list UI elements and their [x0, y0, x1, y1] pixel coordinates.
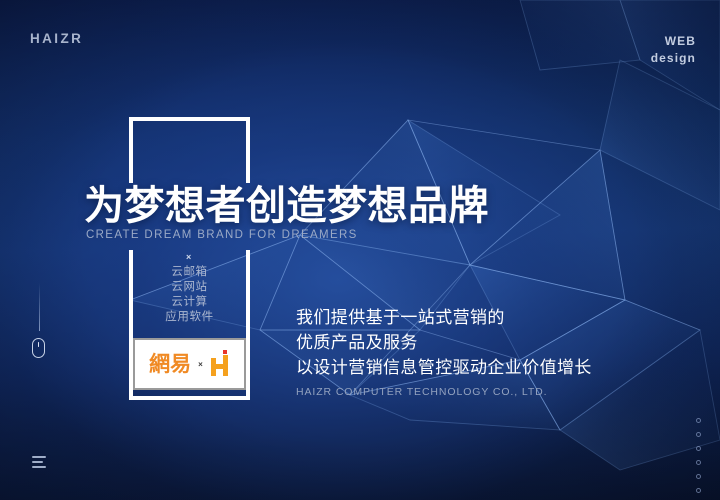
service-menu-list: 云邮箱 云网站 云计算 应用软件 — [129, 265, 250, 325]
scroll-rail-line — [39, 283, 40, 331]
hamburger-line-3 — [32, 466, 46, 468]
frame-top-bar — [129, 117, 250, 121]
partner-logo-card: 網易 × — [133, 338, 246, 390]
hamburger-line-2 — [32, 461, 43, 463]
hamburger-menu-icon[interactable] — [32, 456, 46, 468]
pagination-dot[interactable] — [696, 432, 701, 437]
vignette-overlay — [0, 0, 720, 500]
netease-logo-text: 網易 — [149, 354, 191, 375]
service-menu-item-applications[interactable]: 应用软件 — [129, 310, 250, 325]
menu-separator-x: × — [186, 252, 191, 262]
brand-logo-text[interactable]: HAIZR — [30, 31, 83, 46]
frame-bottom-bar — [129, 396, 250, 400]
pagination-dot[interactable] — [696, 460, 701, 465]
pagination-dot[interactable] — [696, 418, 701, 423]
low-poly-background-decoration — [0, 0, 720, 500]
hero-headline: 为梦想者创造梦想品牌 — [84, 182, 489, 230]
body-line-2: 优质产品及服务 — [296, 330, 686, 355]
service-menu-item-cloud-computing[interactable]: 云计算 — [129, 295, 250, 310]
service-menu-item-cloud-website[interactable]: 云网站 — [129, 280, 250, 295]
h-red-dot — [223, 350, 227, 354]
h-right-stem — [223, 355, 228, 376]
hero-slide: HAIZR WEB design 为梦想者创造梦想品牌 CREATE DREAM… — [0, 0, 720, 500]
haizr-h-logo-icon — [210, 352, 230, 376]
logo-separator-x: × — [198, 360, 203, 369]
corner-label-line1: WEB — [651, 33, 696, 50]
mouse-scroll-icon[interactable] — [32, 338, 45, 358]
frame-left-upper — [129, 117, 133, 183]
pagination-dot[interactable] — [696, 488, 701, 493]
corner-label-line2: design — [651, 50, 696, 67]
pagination-dot[interactable] — [696, 474, 701, 479]
service-menu-item-cloud-mail[interactable]: 云邮箱 — [129, 265, 250, 280]
body-line-3: 以设计营销信息管控驱动企业价值增长 — [296, 355, 686, 380]
hero-subheadline: CREATE DREAM BRAND FOR DREAMERS — [86, 229, 358, 241]
company-english-name: HAIZR COMPUTER TECHNOLOGY CO., LTD. — [296, 386, 686, 398]
pagination-dot[interactable] — [696, 446, 701, 451]
hero-body-copy: 我们提供基于一站式营销的 优质产品及服务 以设计营销信息管控驱动企业价值增长 H… — [296, 305, 686, 398]
corner-label: WEB design — [651, 33, 696, 67]
body-line-1: 我们提供基于一站式营销的 — [296, 305, 686, 330]
frame-right-upper — [246, 117, 250, 183]
hamburger-line-1 — [32, 456, 46, 458]
slide-pagination-dots[interactable] — [696, 418, 701, 493]
